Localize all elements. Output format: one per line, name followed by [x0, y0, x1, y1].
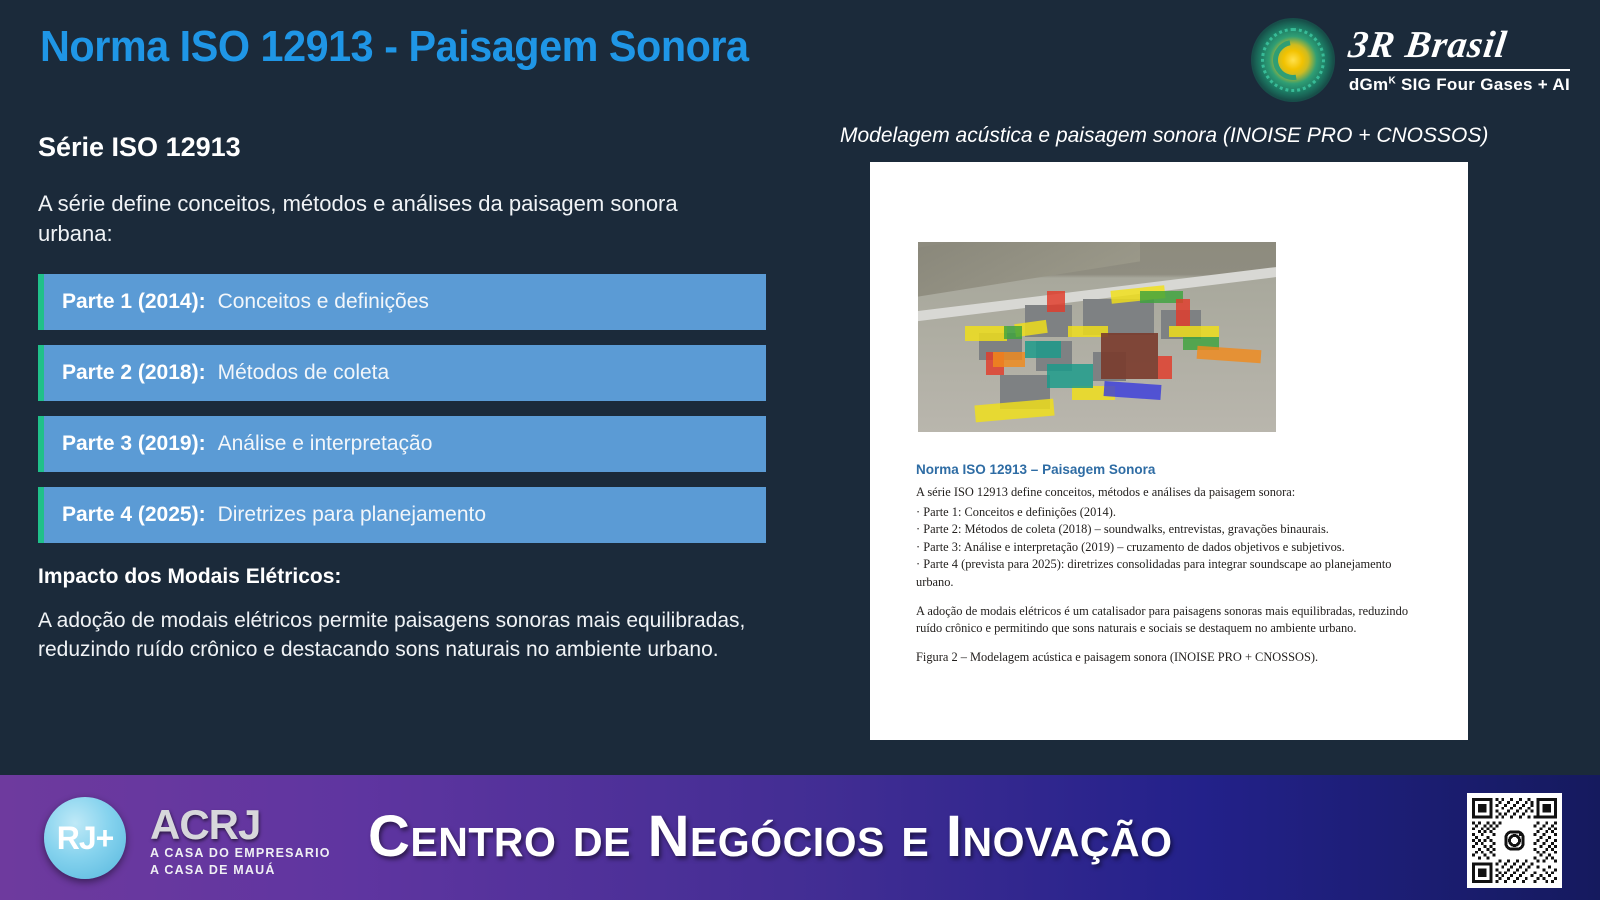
part-bar-1[interactable]: Parte 1 (2014): Conceitos e definições [38, 274, 766, 330]
part-bar-3[interactable]: Parte 3 (2019): Análise e interpretação [38, 416, 766, 472]
brand-tagline: dGmK SIG Four Gases + AI [1349, 75, 1570, 95]
rj-plus-label: RJ+ [57, 820, 114, 857]
acrj-subtitle-line1: A CASA DO EMPRESARIO [150, 845, 331, 862]
part-label-1: Parte 1 (2014): [62, 290, 206, 314]
document-heading: Norma ISO 12913 – Paisagem Sonora [916, 462, 1426, 477]
brand-tagline-rest: SIG Four Gases + AI [1396, 75, 1570, 94]
document-bullet-list: · Parte 1: Conceitos e definições (2014)… [916, 504, 1426, 592]
acrj-subtitle-line2: A CASA DE MAUÁ [150, 862, 331, 879]
document-text-body: Norma ISO 12913 – Paisagem Sonora A séri… [916, 462, 1426, 666]
right-content-column: Modelagem acústica e paisagem sonora (IN… [840, 124, 1570, 740]
footer-title: Centro de Negócios e Inovação [368, 803, 1173, 870]
recycling-globe-icon [1251, 18, 1335, 102]
brand-tagline-sup: K [1388, 75, 1396, 86]
document-figure-line: Figura 2 – Modelagem acústica e paisagem… [916, 649, 1426, 667]
rj-plus-badge: RJ+ [44, 797, 126, 879]
page-title: Norma ISO 12913 - Paisagem Sonora [40, 22, 749, 72]
part-bar-4[interactable]: Parte 4 (2025): Diretrizes para planejam… [38, 487, 766, 543]
document-bullet-3: · Parte 3: Análise e interpretação (2019… [916, 539, 1426, 557]
part-desc-3: Análise e interpretação [218, 432, 433, 456]
footer-bar: RJ+ ACRJ A CASA DO EMPRESARIO A CASA DE … [0, 775, 1600, 900]
document-bullet-1: · Parte 1: Conceitos e definições (2014)… [916, 504, 1426, 522]
document-lead: A série ISO 12913 define conceitos, méto… [916, 484, 1426, 502]
aerial-noise-map-image [918, 242, 1276, 432]
impact-text: A adoção de modais elétricos permite pai… [38, 607, 756, 665]
brand-logo: 3R Brasil dGmK SIG Four Gases + AI [1251, 18, 1570, 102]
part-desc-1: Conceitos e definições [218, 290, 429, 314]
intro-paragraph: A série define conceitos, métodos e anál… [38, 189, 748, 248]
part-label-2: Parte 2 (2018): [62, 361, 206, 385]
section-heading: Série ISO 12913 [38, 132, 778, 163]
brand-name: 3R Brasil [1346, 26, 1573, 64]
acrj-logo: ACRJ A CASA DO EMPRESARIO A CASA DE MAUÁ [150, 805, 331, 879]
impact-heading: Impacto dos Modais Elétricos: [38, 565, 778, 589]
part-label-4: Parte 4 (2025): [62, 503, 206, 527]
acrj-name: ACRJ [150, 805, 331, 845]
part-label-3: Parte 3 (2019): [62, 432, 206, 456]
part-bar-2[interactable]: Parte 2 (2018): Métodos de coleta [38, 345, 766, 401]
document-bullet-2: · Parte 2: Métodos de coleta (2018) – so… [916, 521, 1426, 539]
left-content-column: Série ISO 12913 A série define conceitos… [38, 132, 778, 665]
document-bullet-4: · Parte 4 (prevista para 2025): diretriz… [916, 556, 1426, 591]
figure-caption: Modelagem acústica e paisagem sonora (IN… [840, 124, 1570, 148]
brand-logo-text: 3R Brasil dGmK SIG Four Gases + AI [1349, 26, 1570, 95]
brand-tagline-main: dGm [1349, 75, 1389, 94]
brand-divider [1349, 69, 1570, 71]
instagram-qr-code-icon[interactable] [1467, 793, 1562, 888]
qr-code-graphic [1472, 798, 1557, 883]
part-desc-2: Métodos de coleta [218, 361, 390, 385]
document-preview-card[interactable]: Norma ISO 12913 – Paisagem Sonora A séri… [870, 162, 1468, 740]
part-desc-4: Diretrizes para planejamento [218, 503, 486, 527]
document-paragraph: A adoção de modais elétricos é um catali… [916, 603, 1426, 638]
